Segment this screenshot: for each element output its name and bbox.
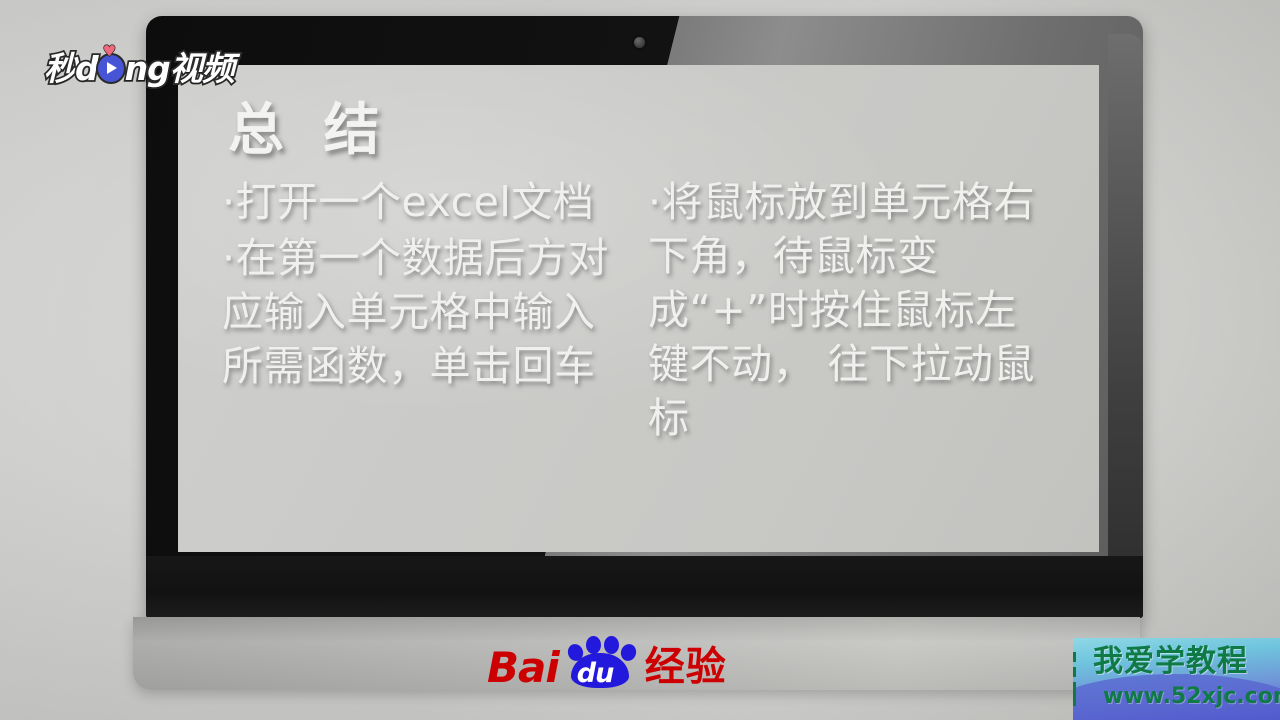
bullet-item: ·将鼠标放到单元格右下角，待鼠标变成“+”时按住鼠标左键不动， 往下拉动鼠标 xyxy=(648,175,1048,446)
webcam-icon xyxy=(634,37,645,48)
monitor-right-edge xyxy=(1108,34,1143,618)
monitor-bottom-bezel xyxy=(146,556,1143,618)
watermark-bar xyxy=(1073,652,1076,662)
monitor-device: 总 结 ·打开一个excel文档 ·在第一个数据后方对应输入单元格中输入所需函数… xyxy=(133,16,1143,618)
slide-column-right: ·将鼠标放到单元格右下角，待鼠标变成“+”时按住鼠标左键不动， 往下拉动鼠标 xyxy=(648,175,1048,448)
logo-text-segment-1: 秒 xyxy=(44,52,76,85)
paw-toe-icon xyxy=(586,636,601,654)
baidu-bai-text: Bai xyxy=(487,648,559,688)
watermark-title: 我爱学教程 xyxy=(1093,646,1248,678)
slide-columns: ·打开一个excel文档 ·在第一个数据后方对应输入单元格中输入所需函数，单击回… xyxy=(222,175,1063,448)
slide-column-left: ·打开一个excel文档 ·在第一个数据后方对应输入单元格中输入所需函数，单击回… xyxy=(222,175,622,395)
watermark-bar xyxy=(1073,682,1076,706)
summary-slide: 总 结 ·打开一个excel文档 ·在第一个数据后方对应输入单元格中输入所需函数… xyxy=(178,65,1099,552)
baidu-du-text: du xyxy=(577,660,614,687)
logo-text-segment-2: d xyxy=(75,52,98,85)
baidu-paw-icon: du xyxy=(563,636,637,688)
baidu-jingyan-logo: Bai du 经验 xyxy=(487,636,727,688)
watermark-url: www.52xjc.com xyxy=(1103,685,1280,708)
play-triangle-icon xyxy=(107,62,117,74)
miaodong-video-logo: 秒 d ♥ ng视频 xyxy=(44,46,234,90)
slide-title: 总 结 xyxy=(228,103,1063,159)
watermark-bar xyxy=(1073,667,1076,677)
bullet-item: ·在第一个数据后方对应输入单元格中输入所需函数，单击回车 xyxy=(222,231,622,393)
baidu-jingyan-text: 经验 xyxy=(645,646,727,688)
play-button-icon: ♥ xyxy=(96,53,126,83)
bullet-item: ·打开一个excel文档 xyxy=(222,175,622,229)
screenshot-stage: 总 结 ·打开一个excel文档 ·在第一个数据后方对应输入单元格中输入所需函数… xyxy=(0,0,1280,720)
watermark-bars-icon xyxy=(1073,652,1082,708)
site-watermark-badge: 我爱学教程 www.52xjc.com xyxy=(1073,638,1280,720)
monitor-screen: 总 结 ·打开一个excel文档 ·在第一个数据后方对应输入单元格中输入所需函数… xyxy=(178,65,1099,552)
paw-toe-icon xyxy=(604,636,619,654)
logo-text-segment-3: ng视频 xyxy=(125,52,234,85)
heart-icon: ♥ xyxy=(103,44,116,59)
